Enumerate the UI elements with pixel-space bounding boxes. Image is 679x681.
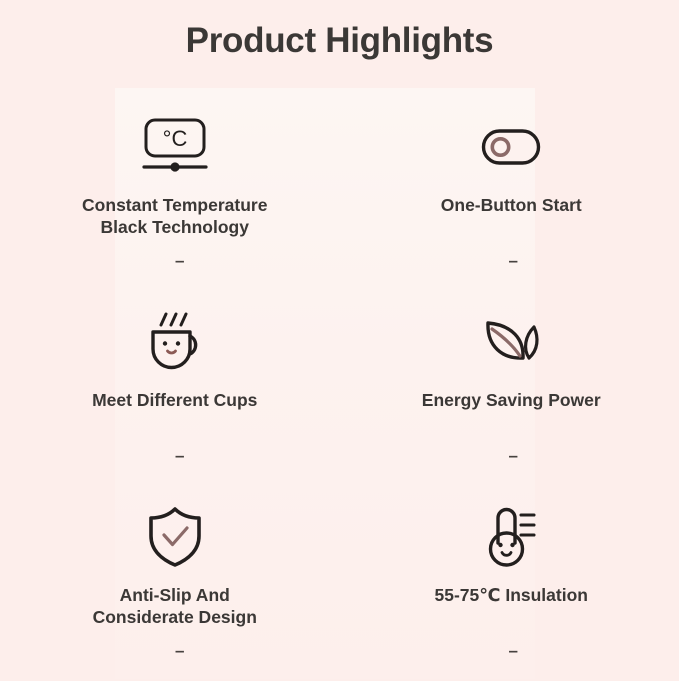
leaf-icon	[478, 309, 544, 375]
feature-item: Meet Different Cups –	[0, 291, 340, 486]
feature-item: °C Constant Temperature Black Technology…	[0, 96, 340, 291]
page-title: Product Highlights	[0, 22, 679, 61]
feature-label: Anti-Slip And Considerate Design	[93, 584, 257, 629]
item-separator: –	[175, 447, 184, 464]
feature-item: One-Button Start –	[340, 96, 679, 291]
item-separator: –	[509, 642, 518, 659]
feature-label: Meet Different Cups	[92, 389, 257, 411]
item-separator: –	[175, 642, 184, 659]
feature-label: Constant Temperature Black Technology	[82, 194, 267, 239]
feature-label: 55-75℃ Insulation	[435, 584, 588, 606]
item-separator: –	[175, 252, 184, 269]
feature-label: One-Button Start	[441, 194, 582, 216]
temperature-unit-label: °C	[162, 126, 187, 151]
item-separator: –	[509, 252, 518, 269]
feature-label: Energy Saving Power	[422, 389, 601, 411]
product-highlights-page: Product Highlights °C Constant Temperatu…	[0, 0, 679, 679]
coffee-cup-smile-icon	[143, 309, 207, 375]
thermometer-smile-icon	[481, 504, 541, 570]
toggle-switch-icon	[480, 114, 542, 180]
shield-check-icon	[147, 504, 203, 570]
feature-grid: °C Constant Temperature Black Technology…	[0, 96, 679, 681]
feature-item: 55-75℃ Insulation –	[340, 486, 679, 681]
feature-item: Energy Saving Power –	[340, 291, 679, 486]
item-separator: –	[509, 447, 518, 464]
temperature-display-icon: °C	[138, 114, 212, 180]
feature-item: Anti-Slip And Considerate Design –	[0, 486, 340, 681]
